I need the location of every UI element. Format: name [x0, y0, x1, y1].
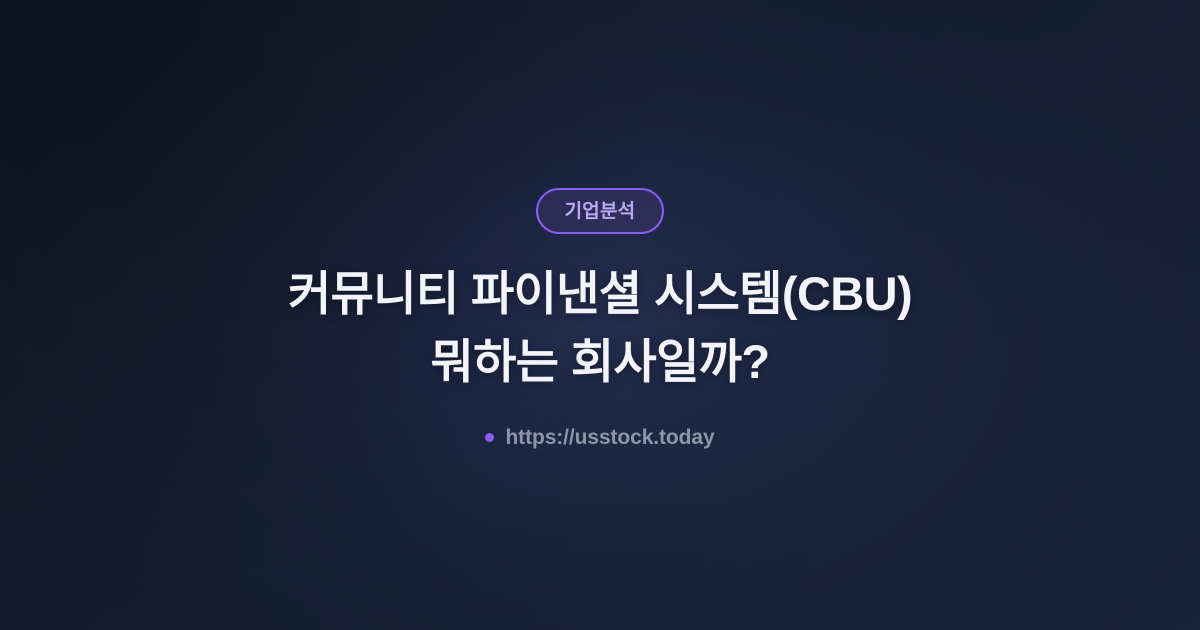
page-title: 커뮤니티 파이낸셜 시스템(CBU) 뭐하는 회사일까?	[288, 260, 912, 396]
card-content: 기업분석 커뮤니티 파이낸셜 시스템(CBU) 뭐하는 회사일까? https:…	[0, 0, 1200, 630]
dot-icon	[485, 433, 494, 442]
category-badge: 기업분석	[536, 188, 665, 234]
category-badge-label: 기업분석	[565, 202, 636, 221]
title-line-1: 커뮤니티 파이낸셜 시스템(CBU)	[288, 260, 912, 328]
open-graph-card: 기업분석 커뮤니티 파이낸셜 시스템(CBU) 뭐하는 회사일까? https:…	[0, 0, 1200, 630]
site-url-row: https://usstock.today	[485, 427, 714, 448]
site-url-label: https://usstock.today	[505, 427, 714, 448]
title-line-2: 뭐하는 회사일까?	[430, 328, 769, 396]
